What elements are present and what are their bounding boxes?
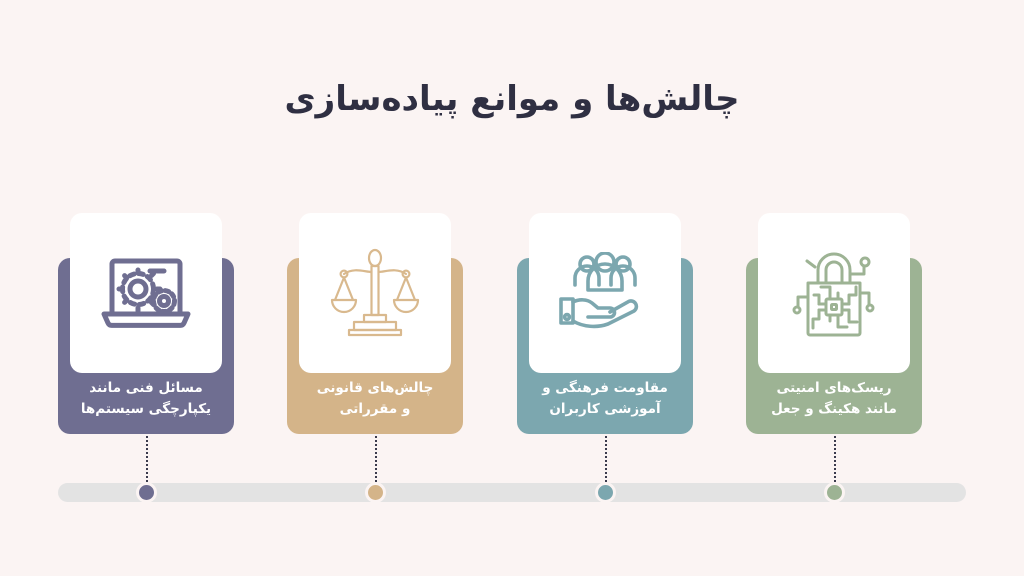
scales-of-justice-icon bbox=[327, 247, 423, 339]
timeline-dot-cultural[interactable] bbox=[595, 482, 616, 503]
card-caption-technical: مسائل فنی مانند یکپارچگی سیستم‌ها bbox=[58, 378, 234, 420]
timeline-dot-security[interactable] bbox=[824, 482, 845, 503]
laptop-gears-icon bbox=[98, 254, 194, 332]
card-caption-security: ریسک‌های امنیتی مانند هکینگ و جعل bbox=[746, 378, 922, 420]
circuit-padlock-icon bbox=[786, 247, 882, 339]
caption-line-1: چالش‌های قانونی bbox=[293, 378, 457, 399]
icon-panel-cultural bbox=[529, 213, 681, 373]
connector-line-technical bbox=[146, 436, 148, 486]
icon-panel-security bbox=[758, 213, 910, 373]
hand-holding-people-icon bbox=[555, 252, 655, 334]
cards-container: مسائل فنی مانند یکپارچگی سیستم‌ها چالش‌ه… bbox=[0, 0, 1024, 576]
connector-line-legal bbox=[375, 436, 377, 486]
caption-line-2: یکپارچگی سیستم‌ها bbox=[64, 399, 228, 420]
timeline-dot-technical[interactable] bbox=[136, 482, 157, 503]
caption-line-2: مانند هکینگ و جعل bbox=[752, 399, 916, 420]
caption-line-2: و مقرراتی bbox=[293, 399, 457, 420]
icon-panel-technical bbox=[70, 213, 222, 373]
timeline-dot-legal[interactable] bbox=[365, 482, 386, 503]
caption-line-1: ریسک‌های امنیتی bbox=[752, 378, 916, 399]
connector-line-cultural bbox=[605, 436, 607, 486]
caption-line-1: مسائل فنی مانند bbox=[64, 378, 228, 399]
slide-root: چالش‌ها و موانع پیاده‌سازی bbox=[0, 0, 1024, 576]
caption-line-1: مقاومت فرهنگی و bbox=[523, 378, 687, 399]
icon-panel-legal bbox=[299, 213, 451, 373]
card-caption-legal: چالش‌های قانونی و مقرراتی bbox=[287, 378, 463, 420]
connector-line-security bbox=[834, 436, 836, 486]
card-caption-cultural: مقاومت فرهنگی و آموزشی کاربران bbox=[517, 378, 693, 420]
caption-line-2: آموزشی کاربران bbox=[523, 399, 687, 420]
